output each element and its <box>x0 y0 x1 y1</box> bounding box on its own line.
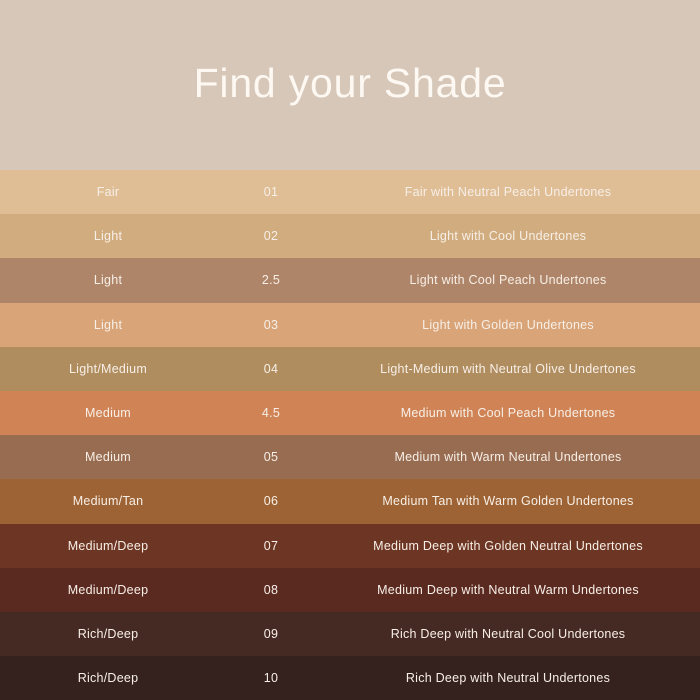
shade-description: Rich Deep with Neutral Cool Undertones <box>330 627 700 641</box>
shade-tone-label: Medium <box>0 406 212 420</box>
shade-description: Light with Cool Undertones <box>330 229 700 243</box>
shade-number: 4.5 <box>212 406 330 420</box>
shade-number: 2.5 <box>212 273 330 287</box>
shade-tone-label: Light/Medium <box>0 362 212 376</box>
shade-number: 07 <box>212 539 330 553</box>
shade-number: 05 <box>212 450 330 464</box>
shade-tone-label: Rich/Deep <box>0 671 212 685</box>
shade-tone-label: Rich/Deep <box>0 627 212 641</box>
shade-row[interactable]: Fair01Fair with Neutral Peach Undertones <box>0 170 700 214</box>
shade-description: Light-Medium with Neutral Olive Underton… <box>330 362 700 376</box>
header-band: Find your Shade <box>0 0 700 170</box>
shade-row[interactable]: Rich/Deep10Rich Deep with Neutral Undert… <box>0 656 700 700</box>
shade-row[interactable]: Light02Light with Cool Undertones <box>0 214 700 258</box>
shade-tone-label: Medium/Tan <box>0 494 212 508</box>
shade-tone-label: Medium/Deep <box>0 539 212 553</box>
shade-row[interactable]: Light2.5Light with Cool Peach Undertones <box>0 258 700 302</box>
shade-description: Medium with Warm Neutral Undertones <box>330 450 700 464</box>
shade-table: Fair01Fair with Neutral Peach Undertones… <box>0 170 700 700</box>
shade-tone-label: Medium/Deep <box>0 583 212 597</box>
shade-description: Light with Cool Peach Undertones <box>330 273 700 287</box>
shade-number: 09 <box>212 627 330 641</box>
shade-row[interactable]: Light/Medium04Light-Medium with Neutral … <box>0 347 700 391</box>
shade-row[interactable]: Medium/Deep07Medium Deep with Golden Neu… <box>0 524 700 568</box>
shade-row[interactable]: Medium/Tan06Medium Tan with Warm Golden … <box>0 479 700 523</box>
shade-tone-label: Light <box>0 273 212 287</box>
shade-description: Medium Deep with Golden Neutral Underton… <box>330 539 700 553</box>
shade-description: Medium Deep with Neutral Warm Undertones <box>330 583 700 597</box>
shade-number: 06 <box>212 494 330 508</box>
shade-description: Medium with Cool Peach Undertones <box>330 406 700 420</box>
shade-row[interactable]: Medium05Medium with Warm Neutral Underto… <box>0 435 700 479</box>
shade-description: Fair with Neutral Peach Undertones <box>330 185 700 199</box>
shade-row[interactable]: Medium/Deep08Medium Deep with Neutral Wa… <box>0 568 700 612</box>
shade-number: 03 <box>212 318 330 332</box>
shade-number: 10 <box>212 671 330 685</box>
page-title: Find your Shade <box>194 63 507 108</box>
shade-row[interactable]: Light03Light with Golden Undertones <box>0 303 700 347</box>
shade-tone-label: Light <box>0 229 212 243</box>
shade-tone-label: Medium <box>0 450 212 464</box>
shade-finder-card: Find your Shade Fair01Fair with Neutral … <box>0 0 700 700</box>
shade-number: 02 <box>212 229 330 243</box>
shade-tone-label: Light <box>0 318 212 332</box>
shade-number: 08 <box>212 583 330 597</box>
shade-description: Rich Deep with Neutral Undertones <box>330 671 700 685</box>
shade-row[interactable]: Medium4.5Medium with Cool Peach Underton… <box>0 391 700 435</box>
shade-row[interactable]: Rich/Deep09Rich Deep with Neutral Cool U… <box>0 612 700 656</box>
shade-description: Medium Tan with Warm Golden Undertones <box>330 494 700 508</box>
shade-number: 04 <box>212 362 330 376</box>
shade-description: Light with Golden Undertones <box>330 318 700 332</box>
shade-number: 01 <box>212 185 330 199</box>
shade-tone-label: Fair <box>0 185 212 199</box>
